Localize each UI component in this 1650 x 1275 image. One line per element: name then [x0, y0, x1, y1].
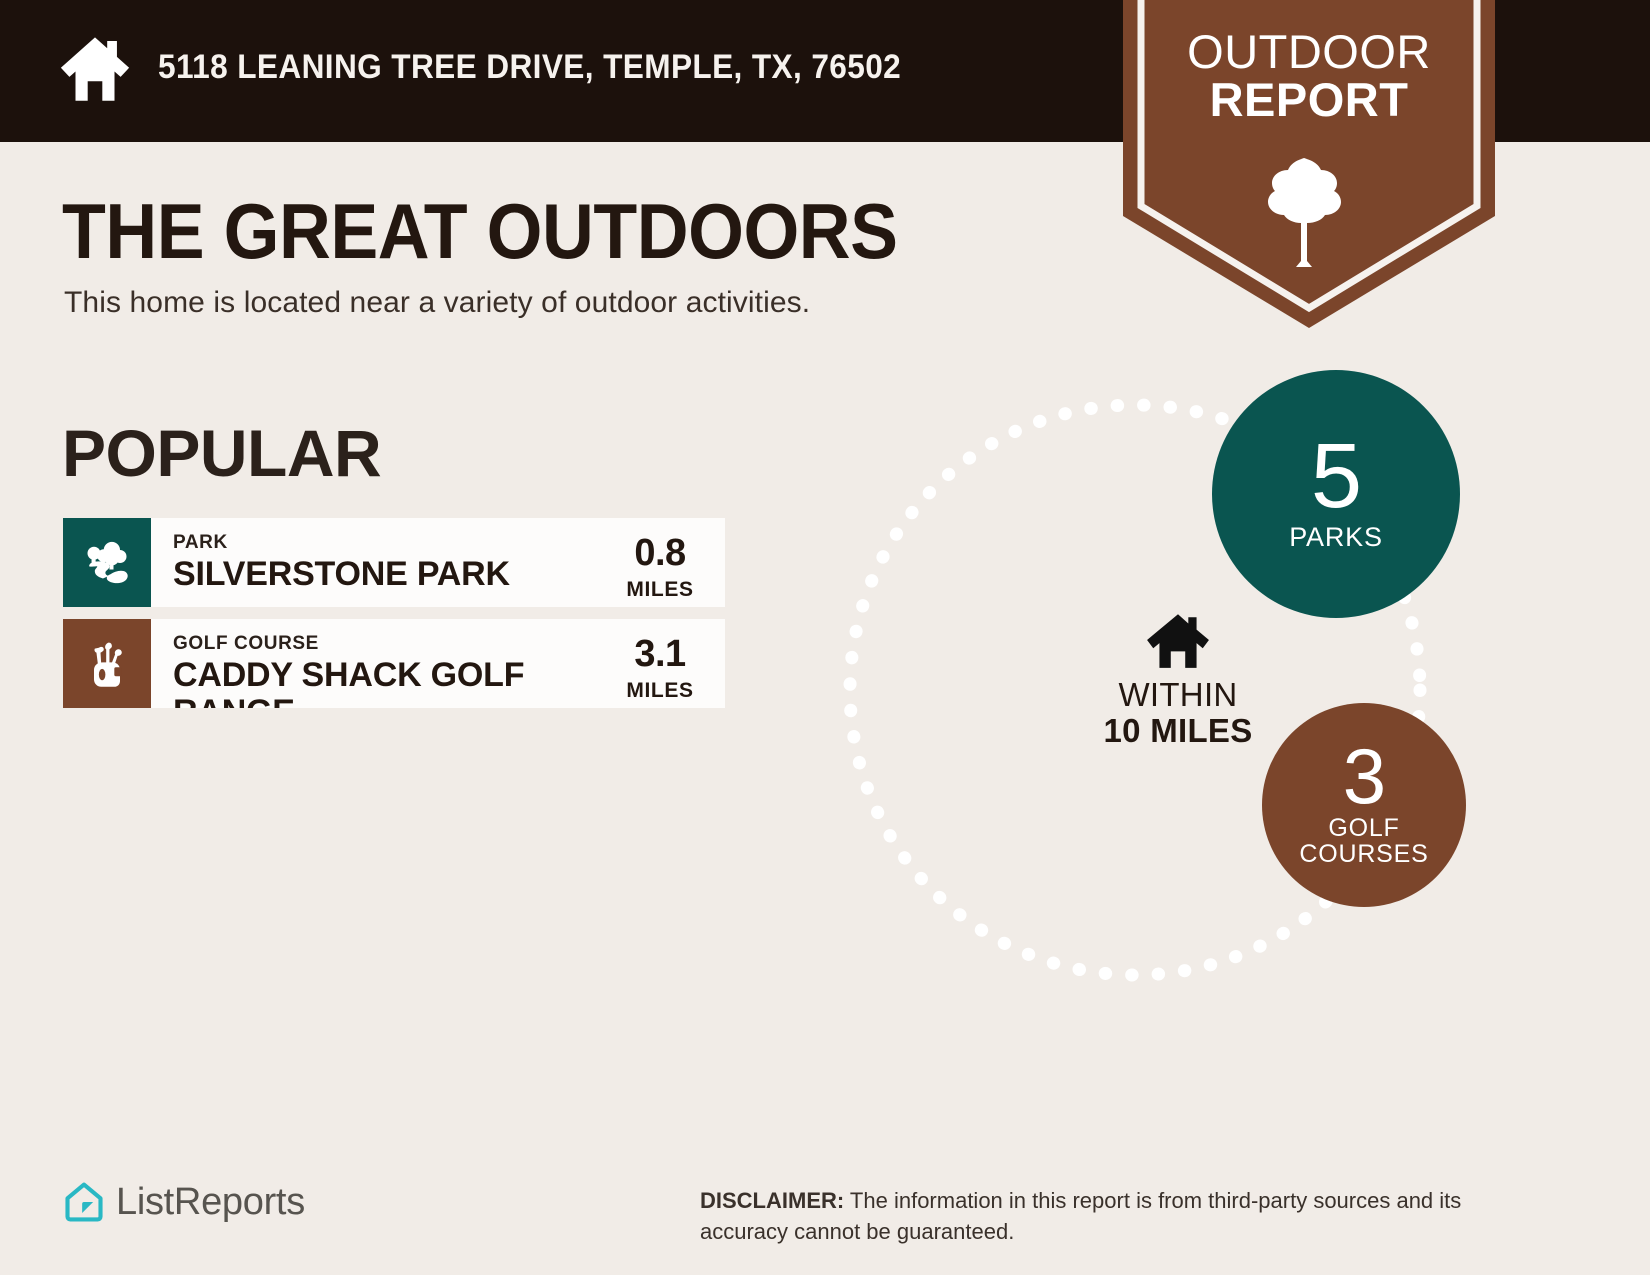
property-address: 5118 LEANING TREE DRIVE, TEMPLE, TX, 765… [158, 48, 901, 87]
stat-label-golf-line1: GOLF [1299, 816, 1428, 842]
poi-icon-box [63, 518, 151, 607]
popular-poi-list: PARK SILVERSTONE PARK 0.8 MILES [63, 518, 725, 720]
poi-text: GOLF COURSE CADDY SHACK GOLF RANGE [173, 633, 595, 708]
listreports-wordmark: ListReports [116, 1181, 305, 1224]
poi-name: CADDY SHACK GOLF RANGE [173, 657, 587, 708]
poi-body: GOLF COURSE CADDY SHACK GOLF RANGE [151, 619, 595, 708]
stat-value-parks: 5 [1311, 437, 1361, 516]
list-item[interactable]: PARK SILVERSTONE PARK 0.8 MILES [63, 518, 725, 607]
poi-distance-unit: MILES [595, 578, 725, 602]
disclaimer: DISCLAIMER: The information in this repo… [700, 1185, 1510, 1247]
poi-distance: 3.1 MILES [595, 619, 725, 708]
poi-category: GOLF COURSE [173, 633, 587, 655]
outdoor-report-infographic: 5118 LEANING TREE DRIVE, TEMPLE, TX, 765… [0, 0, 1650, 1275]
poi-body: PARK SILVERSTONE PARK [151, 518, 595, 607]
poi-distance-value: 3.1 [595, 635, 725, 673]
stat-label-golf-courses: GOLF COURSES [1299, 816, 1428, 867]
disclaimer-label: DISCLAIMER: [700, 1188, 844, 1213]
home-icon [56, 30, 134, 108]
section-heading-popular: POPULAR [62, 415, 381, 491]
poi-distance-value: 0.8 [595, 534, 725, 572]
radius-graphic: WITHIN 10 MILES 5 PARKS 3 GOLF COURSES [830, 360, 1530, 1000]
golf-bag-icon [81, 638, 133, 690]
within-label: WITHIN [1088, 678, 1268, 713]
stat-value-golf-courses: 3 [1343, 743, 1385, 810]
stat-bubble-golf-courses[interactable]: 3 GOLF COURSES [1262, 703, 1466, 907]
home-icon [1088, 610, 1268, 672]
page-subtitle: This home is located near a variety of o… [64, 286, 810, 320]
listreports-house-icon [62, 1180, 106, 1224]
poi-distance: 0.8 MILES [595, 518, 725, 607]
listreports-logo[interactable]: ListReports [62, 1180, 305, 1224]
poi-distance-unit: MILES [595, 679, 725, 703]
stat-label-golf-line2: COURSES [1299, 842, 1428, 868]
poi-icon-box [63, 619, 151, 708]
stat-label-parks: PARKS [1289, 524, 1383, 552]
park-tree-icon [81, 537, 133, 589]
poi-category: PARK [173, 532, 587, 554]
within-value: 10 MILES [1088, 713, 1268, 749]
home-marker: WITHIN 10 MILES [1088, 610, 1268, 749]
stat-bubble-parks[interactable]: 5 PARKS [1212, 370, 1460, 618]
page-title: THE GREAT OUTDOORS [62, 186, 898, 277]
poi-text: PARK SILVERSTONE PARK [173, 532, 595, 593]
outdoor-report-badge: OUTDOOR REPORT [1123, 0, 1495, 328]
poi-name: SILVERSTONE PARK [173, 556, 587, 593]
list-item[interactable]: GOLF COURSE CADDY SHACK GOLF RANGE 3.1 M… [63, 619, 725, 708]
